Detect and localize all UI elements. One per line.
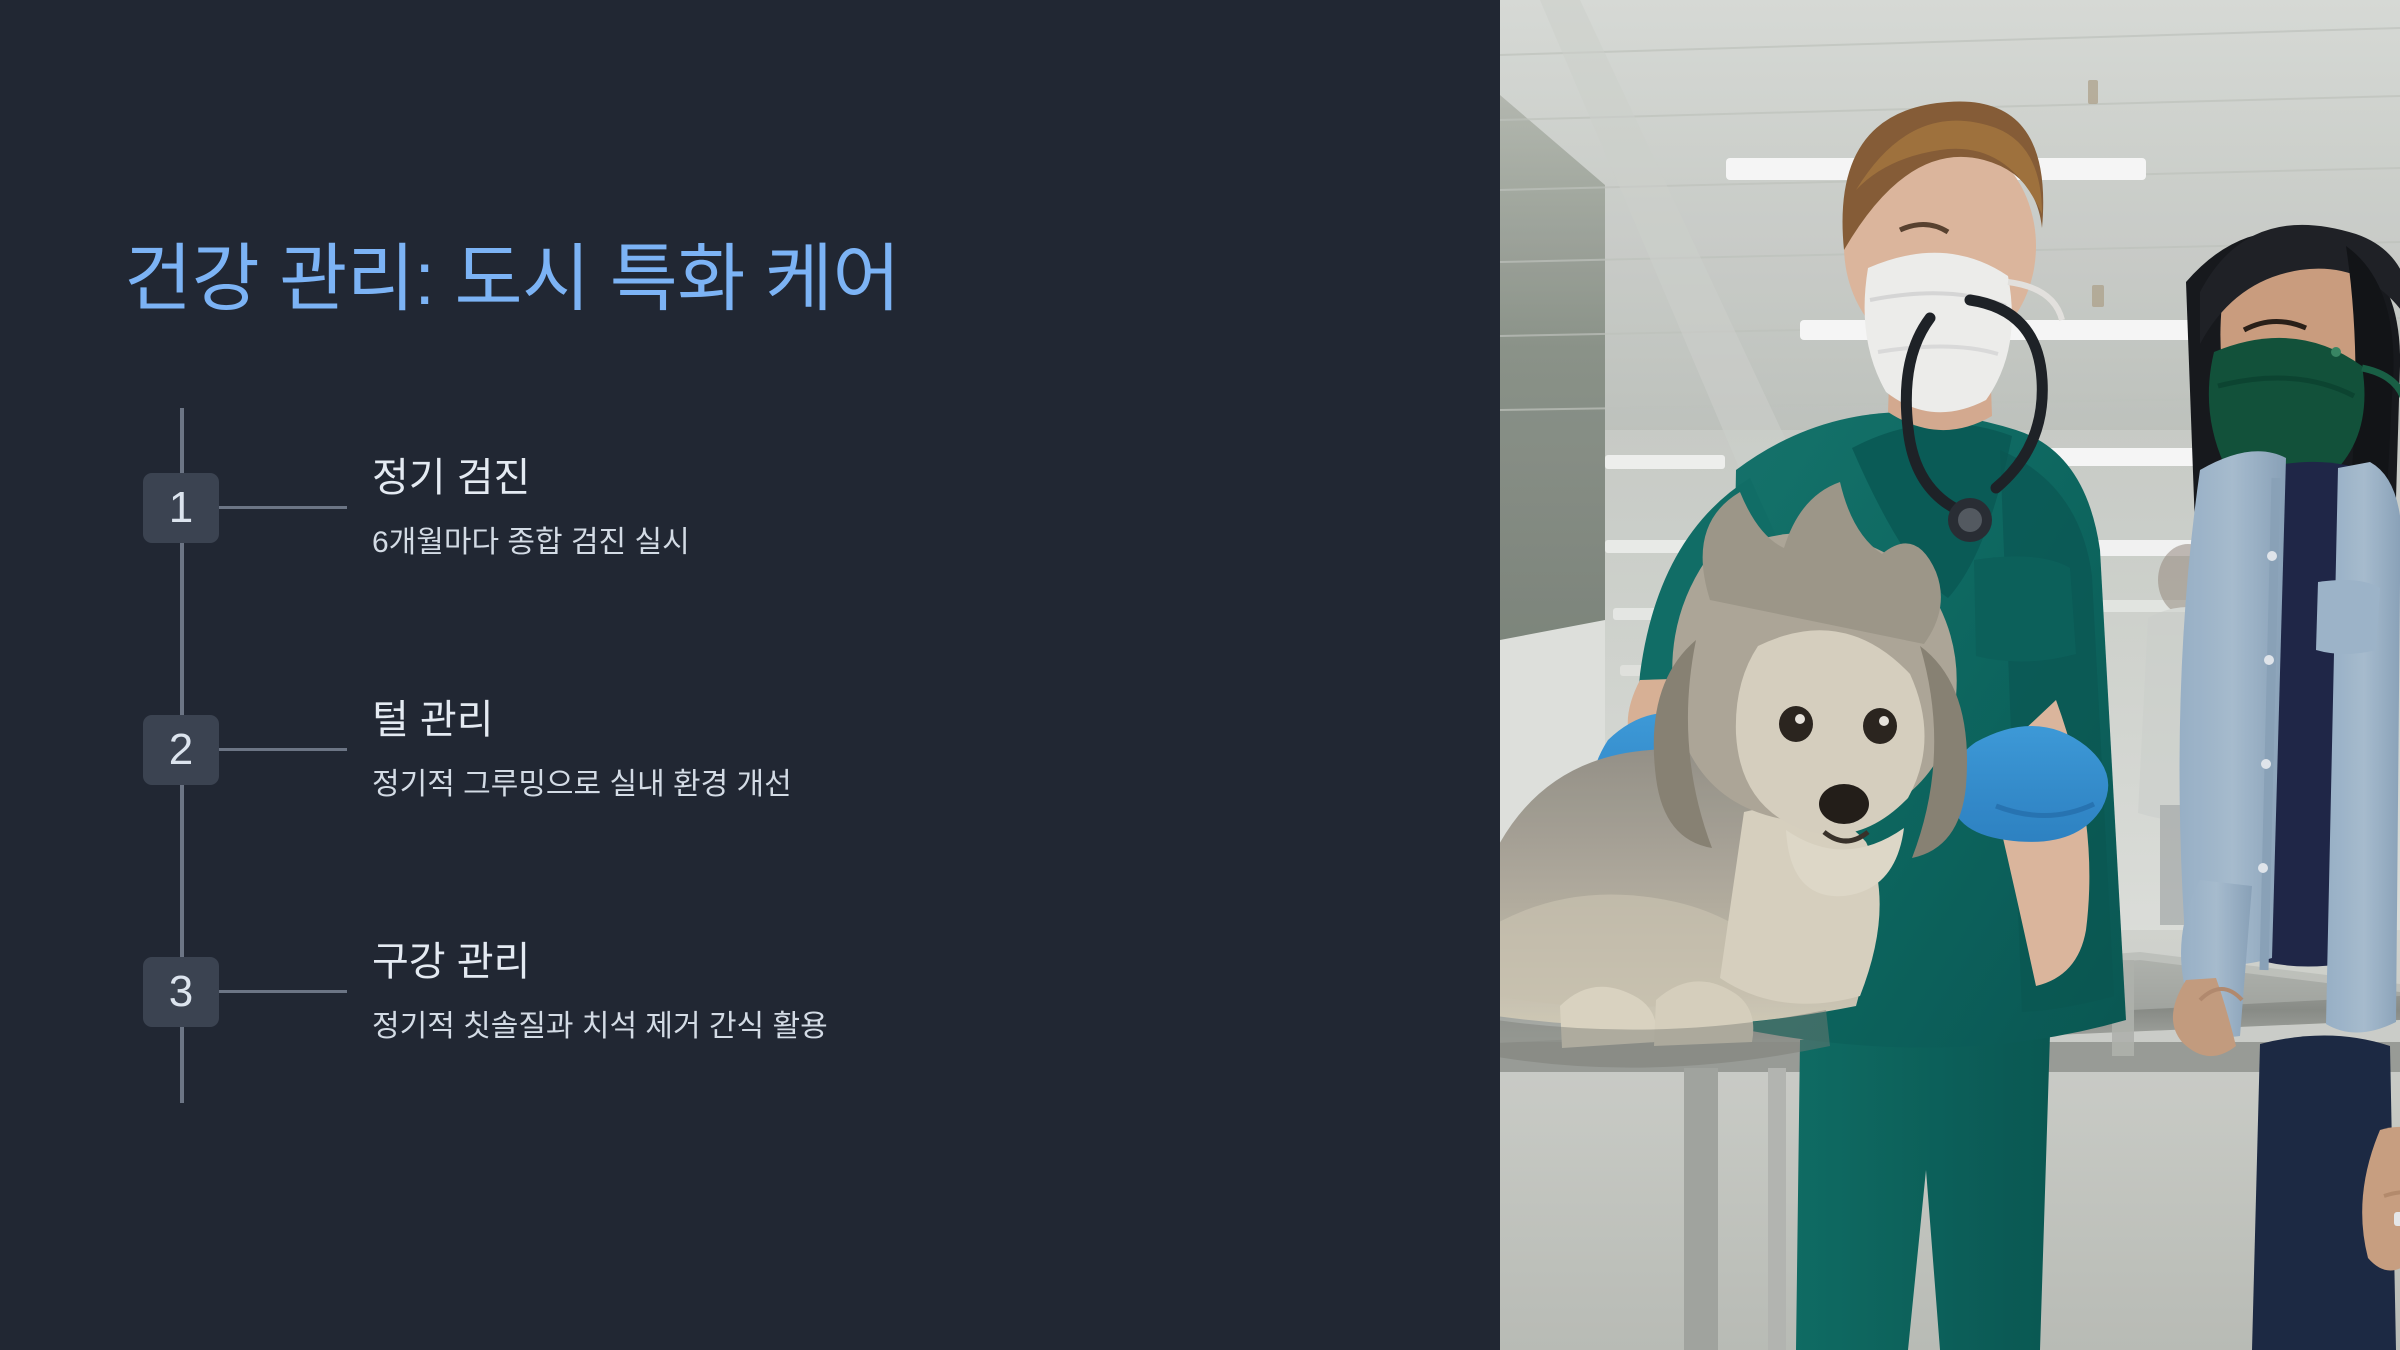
timeline-badge-3: 3	[143, 957, 219, 1027]
timeline-description-1: 6개월마다 종합 검진 실시	[372, 523, 1372, 562]
content-panel: 건강 관리: 도시 특화 케어 1 정기 검진 6개월마다 종합 검진 실시 2…	[0, 0, 1500, 1350]
timeline-connector-1	[219, 506, 347, 509]
timeline-text-3: 구강 관리 정기적 칫솔질과 치석 제거 간식 활용	[372, 937, 1372, 1046]
timeline-heading-1: 정기 검진	[372, 453, 1372, 503]
timeline-badge-1: 1	[143, 473, 219, 543]
timeline-heading-2: 털 관리	[372, 695, 1372, 745]
clinic-photo-illustration	[1500, 0, 2400, 1350]
timeline-text-2: 털 관리 정기적 그루밍으로 실내 환경 개선	[372, 695, 1372, 804]
slide-root: 건강 관리: 도시 특화 케어 1 정기 검진 6개월마다 종합 검진 실시 2…	[0, 0, 2400, 1350]
timeline-description-2: 정기적 그루밍으로 실내 환경 개선	[372, 765, 1372, 804]
clinic-photo	[1500, 0, 2400, 1350]
timeline-text-1: 정기 검진 6개월마다 종합 검진 실시	[372, 453, 1372, 562]
timeline-badge-2: 2	[143, 715, 219, 785]
timeline-description-3: 정기적 칫솔질과 치석 제거 간식 활용	[372, 1007, 1372, 1046]
timeline-heading-3: 구강 관리	[372, 937, 1372, 987]
timeline-connector-2	[219, 748, 347, 751]
timeline: 1 정기 검진 6개월마다 종합 검진 실시 2 털 관리 정기적 그루밍으로 …	[0, 0, 1500, 1350]
timeline-connector-3	[219, 990, 347, 993]
